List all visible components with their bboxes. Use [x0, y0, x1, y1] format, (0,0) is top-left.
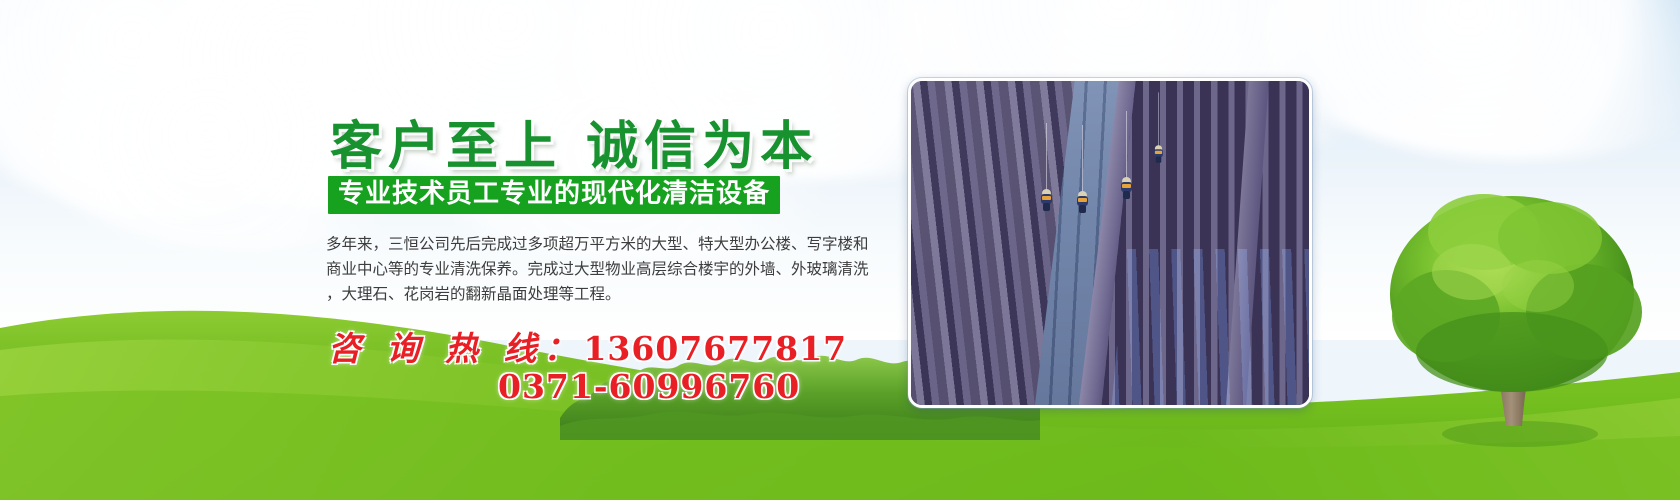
- building-photo: [911, 81, 1309, 405]
- cloud-shape: [80, 0, 380, 120]
- description-line: ，大理石、花岗岩的翻新晶面处理等工程。: [326, 282, 898, 307]
- description-line: 商业中心等的专业清洗保养。完成过大型物业高层综合楼宇的外墙、外玻璃清洗: [326, 257, 898, 282]
- page-title: 客户至上 诚信为本: [330, 104, 818, 179]
- subtitle-bar: 专业技术员工专业的现代化清洁设备: [328, 176, 780, 214]
- hotline-mobile-number[interactable]: 13607677817: [583, 329, 847, 368]
- rope-access-worker-icon: [1039, 189, 1054, 211]
- rope-access-worker-icon: [1153, 145, 1165, 163]
- description-line: 多年来，三恒公司先后完成过多项超万平方米的大型、特大型办公楼、写字楼和: [326, 232, 898, 257]
- rope-access-worker-icon: [1075, 191, 1090, 213]
- subtitle-text: 专业技术员工专业的现代化清洁设备: [338, 181, 770, 207]
- building-photo-card[interactable]: [908, 78, 1312, 408]
- cloud-shape: [520, 0, 860, 110]
- rope-access-worker-icon: [1119, 177, 1134, 199]
- hotline-label: 咨 询 热 线：: [328, 329, 583, 368]
- description-text: 多年来，三恒公司先后完成过多项超万平方米的大型、特大型办公楼、写字楼和 商业中心…: [326, 232, 898, 307]
- cloud-shape: [1260, 0, 1680, 160]
- photo-window-glints: [1111, 249, 1309, 405]
- hero-banner: 客户至上 诚信为本 专业技术员工专业的现代化清洁设备 多年来，三恒公司先后完成过…: [0, 0, 1680, 500]
- hotline-primary[interactable]: 咨 询 热 线：13607677817: [328, 322, 847, 370]
- hotline-landline-number[interactable]: 0371-60996760: [498, 367, 800, 406]
